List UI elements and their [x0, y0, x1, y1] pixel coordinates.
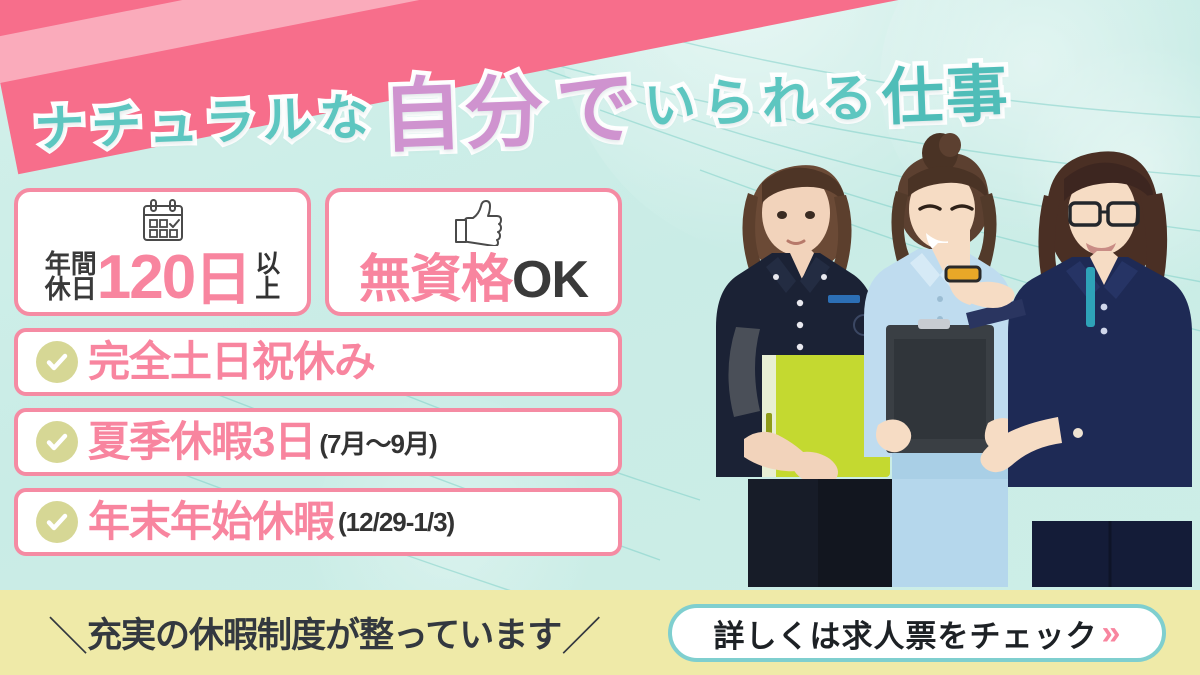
- annual-holidays-number: 120: [97, 251, 194, 306]
- card-no-qualification-body: 無資格 OK: [329, 254, 618, 306]
- cta-button[interactable]: 詳しくは求人票をチェック »: [668, 604, 1166, 662]
- slash-right: ／: [561, 604, 600, 662]
- headline-part-5: 仕事: [881, 63, 1011, 130]
- footer-message: ＼ 充実の休暇制度が整っています ／: [48, 604, 600, 662]
- annual-holidays-suffix: 以 上: [255, 252, 280, 302]
- benefit-row-1: 完全土日祝休み: [14, 328, 622, 396]
- check-circle-icon: [36, 341, 78, 383]
- recruitment-banner: ナチュラルな 自分 で いられる 仕事: [0, 0, 1200, 675]
- calendar-check-icon: [18, 198, 307, 248]
- headline-part-3: で: [555, 67, 640, 150]
- card-annual-holidays: 年間 休日 120 日 以 上: [14, 188, 311, 316]
- no-qualification-ok: OK: [512, 254, 588, 306]
- card-annual-holidays-body: 年間 休日 120 日 以 上: [18, 251, 307, 306]
- annual-holidays-label: 年間 休日: [45, 252, 97, 302]
- benefit-row-3-sub: (12/29-1/3): [338, 507, 454, 538]
- check-circle-icon: [36, 501, 78, 543]
- slash-left: ＼: [48, 604, 87, 662]
- footer-bar: ＼ 充実の休暇制度が整っています ／ 詳しくは求人票をチェック »: [0, 590, 1200, 675]
- headline-part-4: いられる: [643, 72, 881, 133]
- top-cards-row: 年間 休日 120 日 以 上: [14, 188, 626, 316]
- benefit-row-3: 年末年始休暇 (12/29-1/3): [14, 488, 622, 556]
- annual-holidays-unit: 日: [194, 254, 252, 306]
- footer-message-text: 充実の休暇制度が整っています: [87, 607, 561, 658]
- benefit-row-2: 夏季休暇3日 (7月〜9月): [14, 408, 622, 476]
- annual-holidays-suffix-line1: 以: [255, 252, 280, 277]
- annual-holidays-label-line2: 休日: [45, 277, 97, 302]
- check-circle-icon: [36, 421, 78, 463]
- benefit-row-2-main: 夏季休暇3日: [88, 421, 315, 463]
- headline-part-1: ナチュラルな: [33, 92, 377, 154]
- double-chevron-right-icon: »: [1102, 616, 1121, 650]
- staff-photo: [640, 117, 1200, 587]
- annual-holidays-suffix-line2: 上: [255, 277, 280, 302]
- cta-label: 詳しくは求人票をチェック: [714, 611, 1098, 656]
- card-no-qualification: 無資格 OK: [325, 188, 622, 316]
- benefit-row-3-main: 年末年始休暇: [88, 501, 334, 543]
- benefits-panel: 年間 休日 120 日 以 上: [14, 188, 626, 556]
- benefit-row-2-sub: (7月〜9月): [319, 424, 436, 461]
- no-qualification-text: 無資格: [359, 254, 512, 306]
- benefit-row-1-main: 完全土日祝休み: [88, 341, 375, 383]
- headline-part-2: 自分: [381, 71, 548, 157]
- thumbs-up-icon: [329, 198, 618, 246]
